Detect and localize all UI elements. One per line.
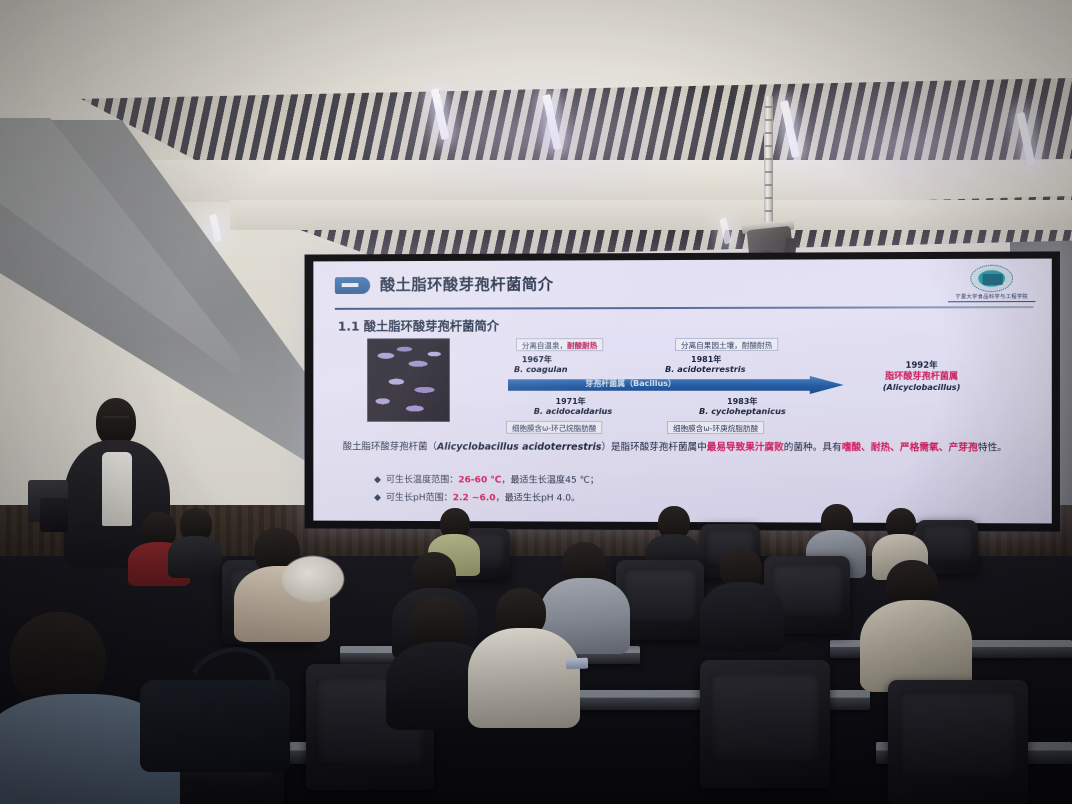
- attendee-cream-puffer: [860, 560, 972, 688]
- glasses-icon: [103, 416, 129, 422]
- body-highlight-2: 嗜酸、耐热、严格需氧、产芽孢: [842, 442, 978, 453]
- logo-text: 宁夏大学食品科学与工程学院: [948, 293, 1036, 302]
- ceiling-beam-middle: [150, 160, 1072, 202]
- timeline-arrow-icon: 芽孢杆菌属（Bacillus）: [508, 376, 844, 394]
- slide-header: 酸土脂环酸芽孢杆菌简介: [335, 271, 1034, 307]
- attendee-fur-collar: [234, 528, 330, 638]
- slide-bullet-list: ◆可生长温度范围：26-60 ℃，最适生长温度45 ℃； ◆可生长pH范围：2.…: [374, 471, 599, 507]
- bullet-item-temperature: ◆可生长温度范围：26-60 ℃，最适生长温度45 ℃；: [374, 471, 599, 489]
- timeline-final-genus: 1992年 脂环酸芽孢杆菌属 (Alicyclobacillus): [856, 360, 988, 395]
- lecture-hall-photo: 酸土脂环酸芽孢杆菌简介 宁夏大学食品科学与工程学院 1.1 酸土脂环酸芽孢杆菌简…: [0, 0, 1072, 804]
- timeline-final-name: 脂环酸芽孢杆菌属: [856, 371, 988, 383]
- timeline-species-1967: B. coagulan: [514, 364, 568, 374]
- timeline-species-1981: B. acidoterrestris: [665, 364, 746, 374]
- slide-section-heading: 1.1 酸土脂环酸芽孢杆菌简介: [338, 315, 499, 334]
- slide-body-text: 酸土脂环酸芽孢杆菌（Alicyclobacillus acidoterrestr…: [343, 440, 1034, 457]
- attendee-coat: [860, 600, 972, 692]
- smartphone-on-desk: [566, 658, 588, 670]
- bullet-marker-icon-2: ◆: [374, 492, 381, 503]
- bullet-marker-icon: ◆: [374, 474, 381, 485]
- chair-near-3: [888, 680, 1028, 804]
- timeline-caption-top-right: 分离自果园土壤，耐酸耐热: [675, 338, 778, 351]
- projection-screen[interactable]: 酸土脂环酸芽孢杆菌简介 宁夏大学食品科学与工程学院 1.1 酸土脂环酸芽孢杆菌简…: [305, 251, 1060, 531]
- bacteria-micrograph-image: [367, 338, 450, 421]
- presentation-slide: 酸土脂环酸芽孢杆菌简介 宁夏大学食品科学与工程学院 1.1 酸土脂环酸芽孢杆菌简…: [313, 259, 1051, 524]
- timeline-arrow-label: 芽孢杆菌属（Bacillus）: [585, 378, 676, 389]
- attendee-near-cream: [468, 588, 580, 724]
- presenter-head: [96, 398, 136, 446]
- species-latin-name: Alicyclobacillus acidoterrestris: [437, 442, 602, 453]
- timeline-diagram: 分离自温泉，耐酸耐热 分离自果园土壤，耐酸耐热 1967年 B. coagula…: [461, 337, 1042, 434]
- chair-near-2: [700, 660, 830, 788]
- timeline-caption-bottom-right: 细胞膜含ω-环庚烷脂肪酸: [667, 421, 764, 434]
- logo-emblem-icon: [970, 265, 1013, 292]
- timeline-caption-top-left: 分离自温泉，耐酸耐热: [516, 338, 603, 351]
- section-badge-icon: [335, 277, 370, 294]
- attendee-coat: [168, 536, 222, 578]
- podium-equipment-2: [40, 498, 68, 532]
- slide-title: 酸土脂环酸芽孢杆菌简介: [380, 272, 554, 294]
- timeline-species-1983: B. cycloheptanicus: [699, 406, 786, 416]
- timeline-final-year: 1992年: [856, 360, 988, 372]
- bullet-item-ph: ◆可生长pH范围：2.2 ~6.0，最适生长pH 4.0。: [374, 489, 599, 508]
- university-logo: 宁夏大学食品科学与工程学院: [948, 265, 1036, 306]
- attendee-coat: [700, 582, 784, 652]
- fur-collar: [282, 556, 344, 602]
- timeline-species-1971: B. acidocaldarius: [534, 406, 612, 416]
- slide-header-rule: [335, 306, 1034, 310]
- ceiling-beam-lower: [230, 200, 1072, 230]
- attendee-dark-5: [700, 548, 784, 648]
- timeline-caption-bottom-left: 细胞膜含ω-环己烷脂肪酸: [506, 421, 602, 434]
- attendee-dark-2: [168, 508, 222, 576]
- attendee-coat: [468, 628, 580, 728]
- timeline-final-latin: (Alicyclobacillus): [856, 383, 988, 394]
- body-highlight-1: 最易导致果汁腐败: [707, 442, 784, 453]
